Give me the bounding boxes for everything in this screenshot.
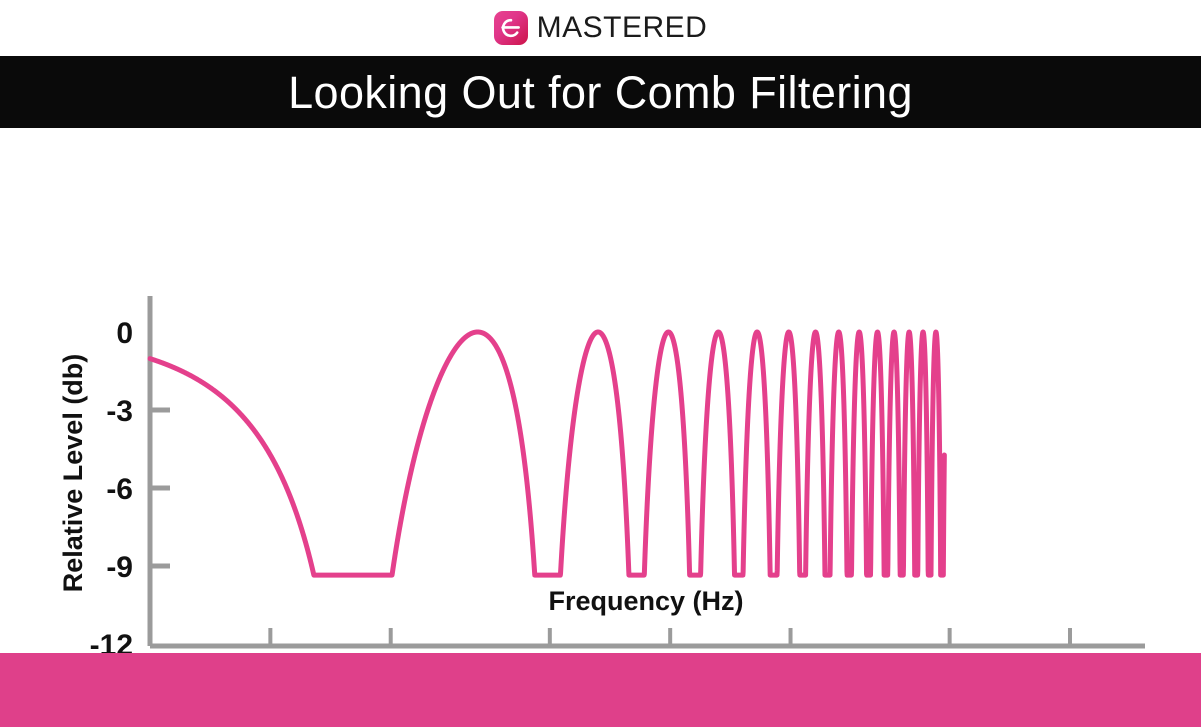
y-tick-label: -9: [106, 551, 133, 584]
page-title: Looking Out for Comb Filtering: [288, 70, 913, 115]
y-axis-title: Relative Level (db): [58, 354, 88, 593]
x-tick-marks: [270, 628, 1070, 646]
comb-filter-chart: 0-3-6-9-12 501002005001k2k5k10k Relative…: [0, 128, 1201, 653]
bottom-accent-bar: [0, 653, 1201, 727]
y-tick-label: -12: [90, 629, 133, 653]
emastered-e-logo-icon: [494, 11, 528, 45]
y-tick-label: -3: [106, 395, 133, 428]
y-tick-label: -6: [106, 473, 133, 506]
y-tick-marks: [150, 410, 170, 566]
brand-wordmark: MASTERED: [537, 13, 708, 43]
x-axis-title: Frequency (Hz): [548, 586, 743, 616]
chart-panel: 0-3-6-9-12 501002005001k2k5k10k Relative…: [0, 128, 1201, 653]
y-tick-label: 0: [116, 317, 133, 350]
comb-filter-trace: [150, 332, 944, 575]
y-tick-labels: 0-3-6-9-12: [90, 317, 133, 653]
brand-header: MASTERED: [0, 0, 1201, 56]
title-banner: Looking Out for Comb Filtering: [0, 56, 1201, 128]
